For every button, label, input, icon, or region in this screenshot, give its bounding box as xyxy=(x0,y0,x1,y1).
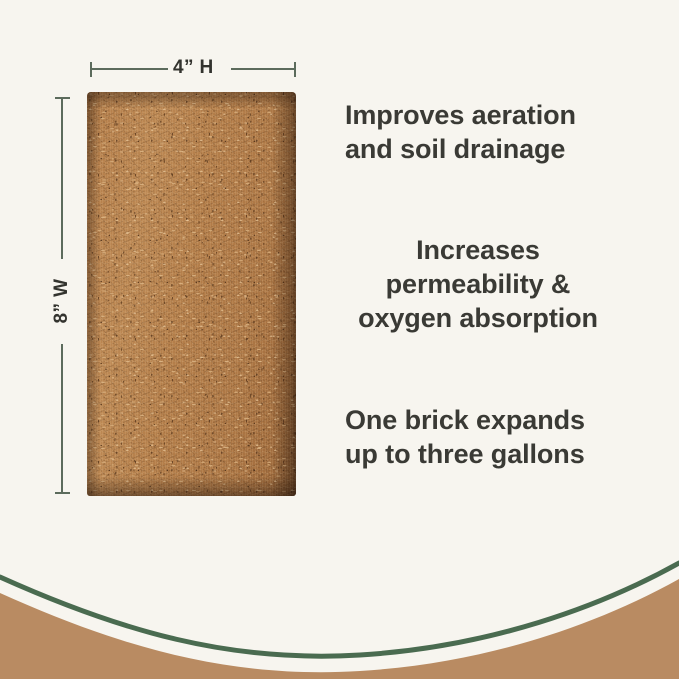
product-infographic: 4” H 8” W Improves aeration and soil dra… xyxy=(0,0,679,679)
width-guide-line-right xyxy=(231,68,296,70)
height-guide-line-bottom xyxy=(61,344,63,494)
height-guide-line-top xyxy=(61,99,63,259)
wave-tan-fill xyxy=(0,579,679,679)
wave-footer-decoration xyxy=(0,519,679,679)
width-guide-cap-right xyxy=(294,62,296,77)
feature-permeability: Increases permeability & oxygen absorpti… xyxy=(337,233,619,335)
feature-expansion: One brick expands up to three gallons xyxy=(345,403,620,471)
feature-aeration: Improves aeration and soil drainage xyxy=(345,98,615,166)
height-guide-cap-bottom xyxy=(55,492,70,494)
height-dimension-label: 8” W xyxy=(51,275,73,327)
width-dimension-label: 4” H xyxy=(173,57,214,79)
width-guide-line-left xyxy=(92,68,168,70)
coir-brick-image xyxy=(87,92,296,496)
